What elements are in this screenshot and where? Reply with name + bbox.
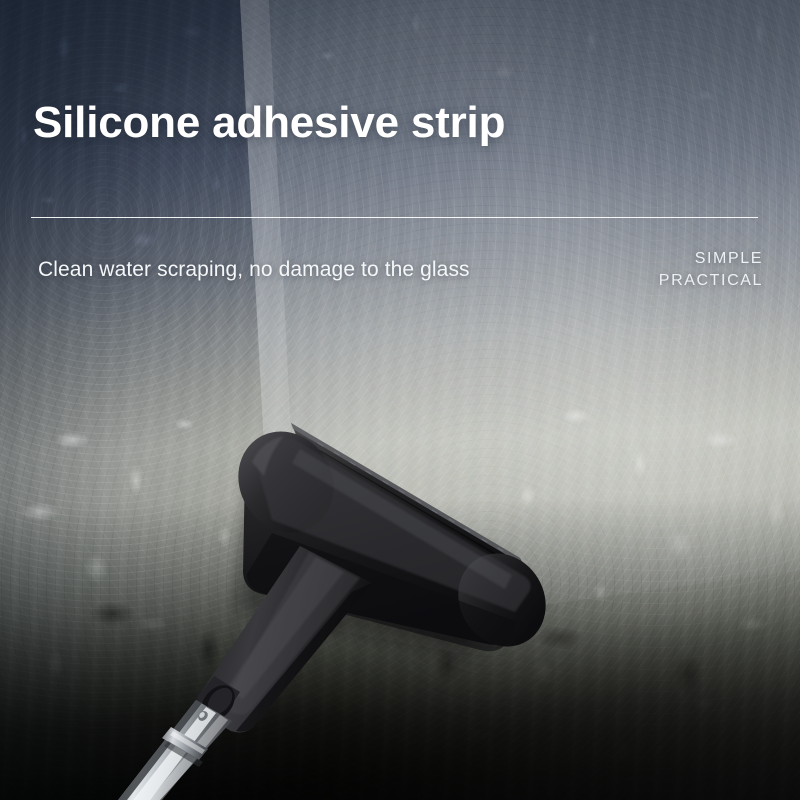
- page-title: Silicone adhesive strip: [33, 101, 505, 145]
- tagline-line-1: SIMPLE: [659, 248, 763, 270]
- header-divider: [31, 217, 758, 218]
- page-subtitle: Clean water scraping, no damage to the g…: [38, 258, 470, 282]
- product-banner: Silicone adhesive strip Clean water scra…: [0, 0, 800, 800]
- black-plastic-handle: [194, 546, 372, 732]
- tagline: SIMPLE PRACTICAL: [659, 248, 763, 292]
- tagline-line-2: PRACTICAL: [659, 270, 763, 292]
- chrome-telescoping-pole: [118, 700, 232, 800]
